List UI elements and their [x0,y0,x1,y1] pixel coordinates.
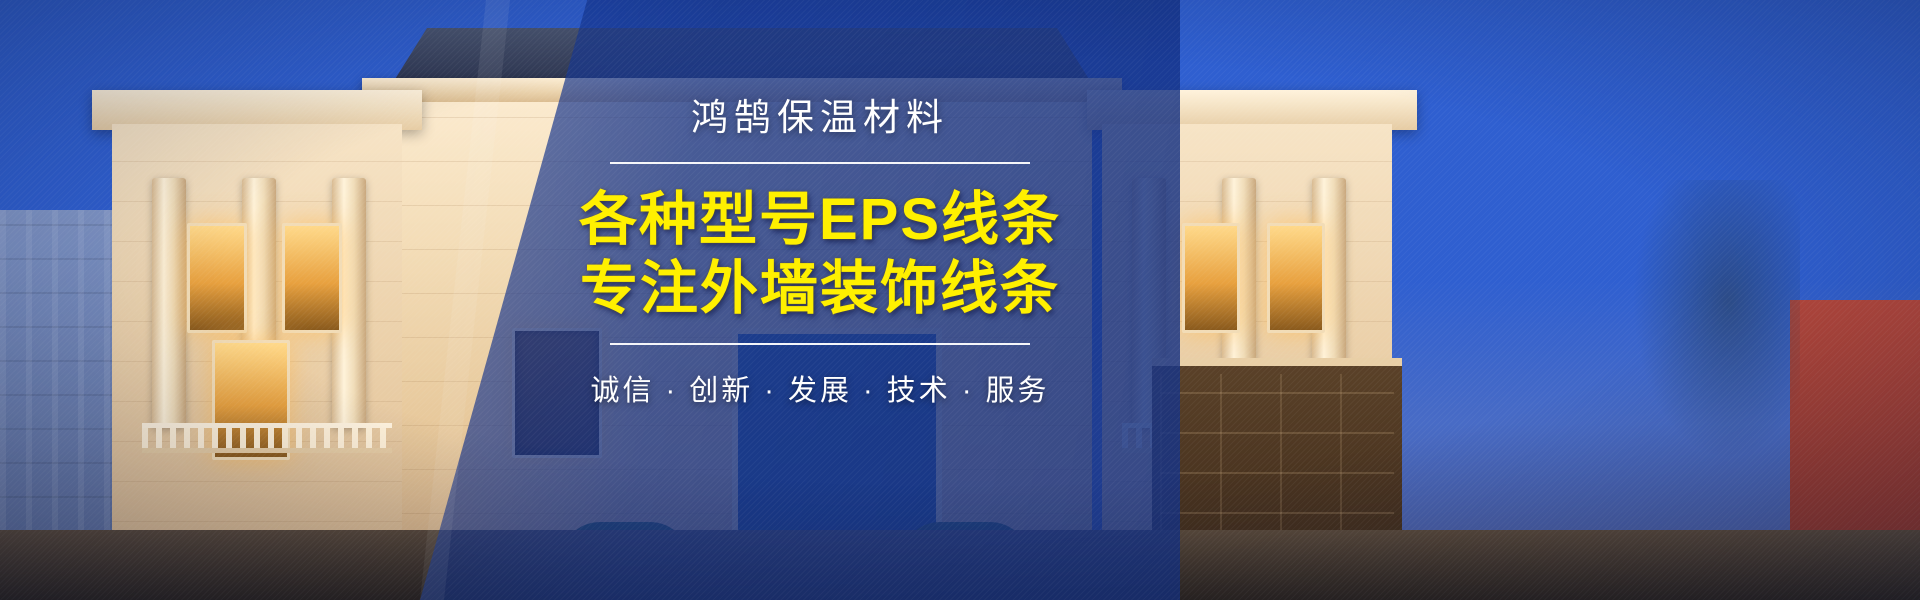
headline: 各种型号EPS线条 专注外墙装饰线条 [560,186,1080,323]
window [1182,223,1240,333]
window [1267,223,1325,333]
tagline: 诚信 · 创新 · 发展 · 技术 · 服务 [560,367,1080,409]
window [282,223,342,333]
column [152,178,186,428]
balustrade [142,423,392,453]
headline-line-2: 专注外墙装饰线条 [560,255,1080,323]
banner-content: 鸿鹄保温材料 各种型号EPS线条 专注外墙装饰线条 诚信 · 创新 · 发展 ·… [560,96,1080,409]
hero-banner: 鸿鹄保温材料 各种型号EPS线条 专注外墙装饰线条 诚信 · 创新 · 发展 ·… [0,0,1920,600]
headline-line-1: 各种型号EPS线条 [560,186,1080,254]
tree-silhouette [1620,180,1800,480]
brand-name: 鸿鹄保温材料 [560,96,1080,140]
divider-top [610,162,1030,164]
divider-bottom [610,343,1030,345]
window [187,223,247,333]
